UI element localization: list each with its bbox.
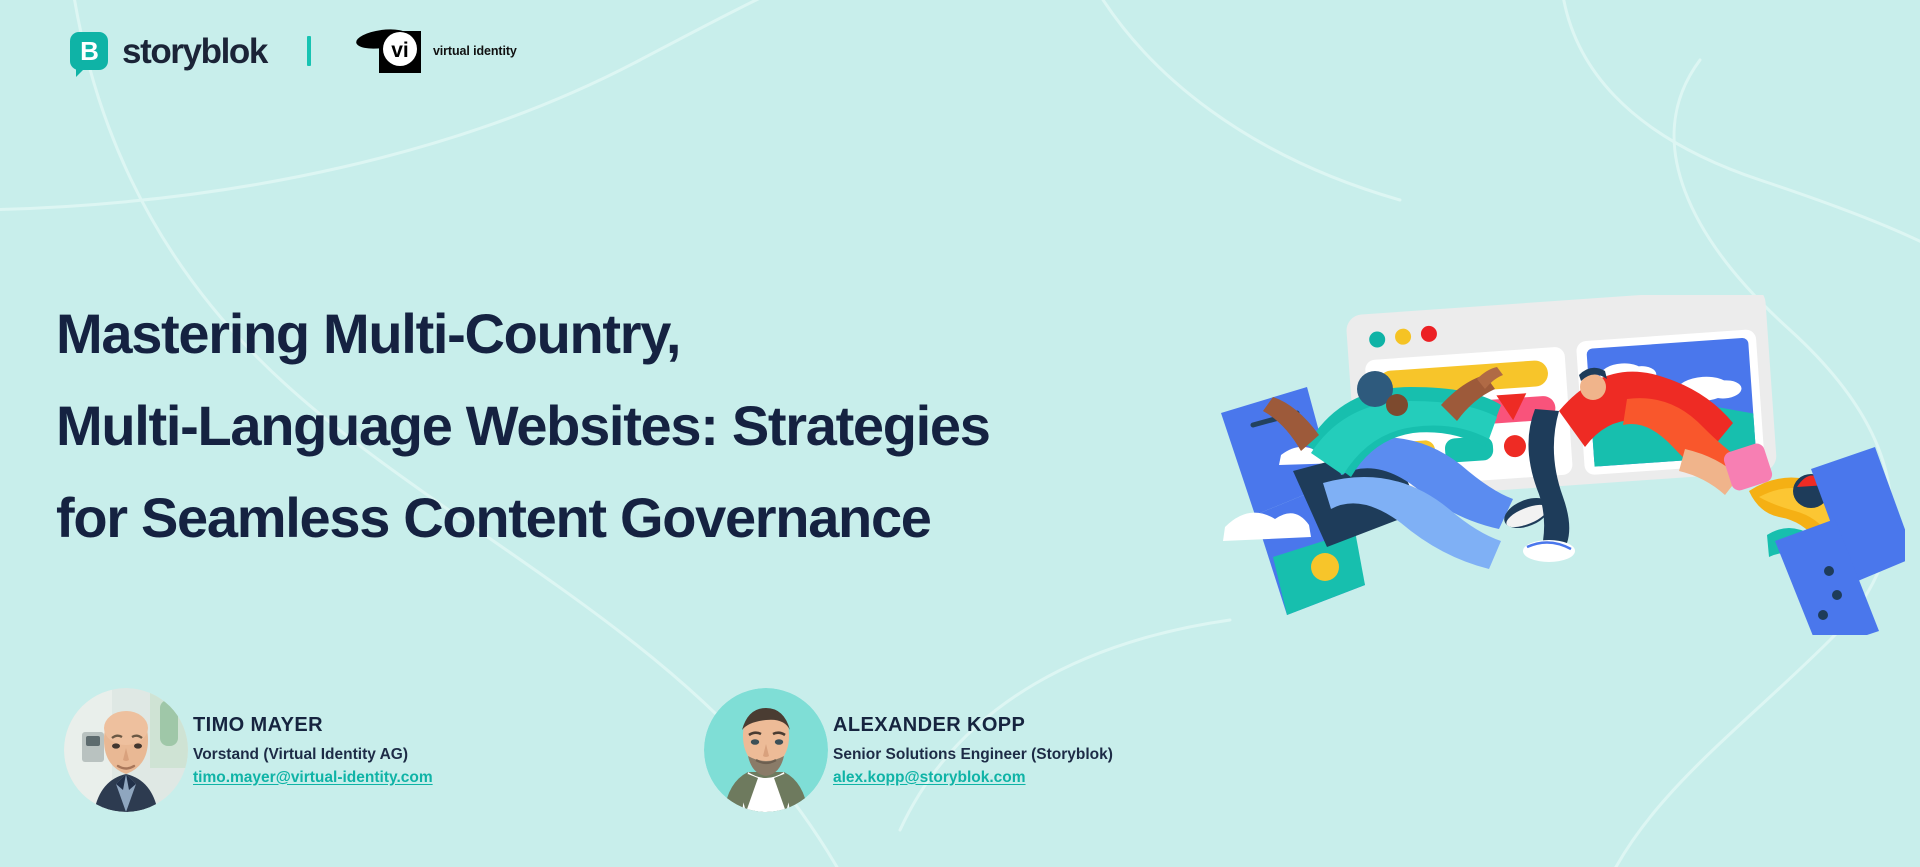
speaker-card-timo-mayer: TIMO MAYER Vorstand (Virtual Identity AG… bbox=[64, 688, 704, 812]
virtual-identity-wordmark: virtual identity bbox=[433, 44, 517, 58]
storyblok-logo-letter: B bbox=[80, 38, 98, 64]
speaker-name: TIMO MAYER bbox=[193, 713, 433, 737]
speaker-role: Vorstand (Virtual Identity AG) bbox=[193, 745, 433, 765]
speakers-row: TIMO MAYER Vorstand (Virtual Identity AG… bbox=[64, 688, 1113, 812]
speaker-info: ALEXANDER KOPP Senior Solutions Engineer… bbox=[833, 713, 1113, 786]
title-line-2: Multi-Language Websites: Strategies bbox=[56, 380, 1236, 472]
speaker-role: Senior Solutions Engineer (Storyblok) bbox=[833, 745, 1113, 765]
logo-divider bbox=[307, 36, 311, 66]
virtual-identity-logo-icon: vi bbox=[355, 27, 423, 75]
svg-text:vi: vi bbox=[391, 39, 409, 62]
avatar bbox=[704, 688, 828, 812]
speaker-info: TIMO MAYER Vorstand (Virtual Identity AG… bbox=[193, 713, 433, 786]
storyblok-wordmark: storyblok bbox=[122, 34, 267, 69]
people-building-website-illustration bbox=[1215, 295, 1905, 635]
speaker-card-alexander-kopp: ALEXANDER KOPP Senior Solutions Engineer… bbox=[704, 688, 1113, 812]
speaker-email-link[interactable]: timo.mayer@virtual-identity.com bbox=[193, 769, 433, 787]
slide-root: B storyblok vi virtual identity Masterin… bbox=[0, 0, 1920, 867]
page-title: Mastering Multi-Country, Multi-Language … bbox=[56, 288, 1236, 564]
speaker-name: ALEXANDER KOPP bbox=[833, 713, 1113, 737]
speaker-email-link[interactable]: alex.kopp@storyblok.com bbox=[833, 769, 1026, 787]
avatar bbox=[64, 688, 188, 812]
storyblok-logo-icon: B bbox=[70, 32, 108, 70]
title-line-1: Mastering Multi-Country, bbox=[56, 288, 1236, 380]
title-line-3: for Seamless Content Governance bbox=[56, 472, 1236, 564]
header-logo-bar: B storyblok vi virtual identity bbox=[70, 22, 517, 80]
